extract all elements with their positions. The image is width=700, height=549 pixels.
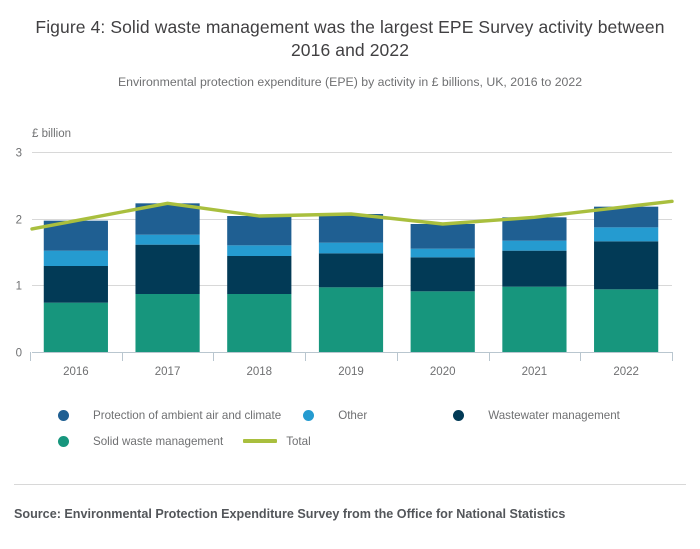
stacked-bar-chart: 01232016201720182019202020212022 — [0, 128, 700, 378]
chart-legend: Protection of ambient air and climateOth… — [58, 404, 678, 456]
legend-dot-swatch-icon — [58, 436, 69, 447]
chart-header: Figure 4: Solid waste management was the… — [0, 0, 700, 91]
legend-dot-swatch-icon — [58, 410, 69, 421]
page-title: Figure 4: Solid waste management was the… — [28, 16, 672, 62]
legend-label: Solid waste management — [93, 435, 223, 448]
bar-segment — [227, 256, 291, 294]
legend-item-total[interactable]: Total — [243, 435, 311, 448]
x-axis-tick-label: 2019 — [338, 366, 364, 378]
legend-label: Other — [338, 409, 367, 422]
y-axis-tick-label: 2 — [16, 215, 22, 227]
legend-label: Protection of ambient air and climate — [93, 409, 281, 422]
x-axis-tick-label: 2017 — [155, 366, 181, 378]
bar-segment — [319, 243, 383, 254]
bar-segment — [411, 291, 475, 352]
legend-label: Wastewater management — [488, 409, 620, 422]
bar-segment — [227, 294, 291, 352]
legend-line-swatch-icon — [243, 439, 277, 442]
y-axis-tick-label: 3 — [16, 148, 22, 160]
legend-dot-swatch-icon — [303, 410, 314, 421]
bar-segment — [135, 245, 199, 294]
y-axis-tick-label: 1 — [16, 281, 22, 293]
chart-plot-area: £ billion 012320162017201820192020202120… — [0, 128, 700, 378]
x-axis-tick-label: 2022 — [613, 366, 639, 378]
x-axis-tick-label: 2016 — [63, 366, 89, 378]
x-axis-tick-label: 2021 — [522, 366, 548, 378]
bar-segment — [44, 303, 108, 352]
bar-segment — [594, 227, 658, 241]
bar-segment — [319, 253, 383, 287]
x-axis-tick-label: 2018 — [246, 366, 272, 378]
chart-subtitle: Environmental protection expenditure (EP… — [28, 75, 672, 91]
legend-item-wastewater-management[interactable]: Wastewater management — [453, 409, 620, 422]
bar-segment — [227, 216, 291, 245]
footer-divider — [14, 484, 686, 485]
bar-segment — [135, 294, 199, 352]
bar-segment — [411, 224, 475, 249]
legend-item-other[interactable]: Other — [303, 409, 367, 422]
bar-segment — [411, 249, 475, 258]
source-note: Source: Environmental Protection Expendi… — [14, 507, 565, 521]
bar-segment — [227, 245, 291, 256]
bar-segment — [411, 257, 475, 291]
bar-segment — [594, 289, 658, 352]
legend-row: Solid waste managementTotal — [58, 430, 678, 452]
legend-dot-swatch-icon — [453, 410, 464, 421]
bar-segment — [502, 217, 566, 240]
y-axis-unit-label: £ billion — [32, 128, 77, 140]
legend-label: Total — [286, 435, 311, 448]
x-axis-tick-label: 2020 — [430, 366, 456, 378]
bar-segment — [135, 235, 199, 245]
bar-segment — [319, 287, 383, 352]
bar-segment — [594, 241, 658, 289]
bar-segment — [502, 251, 566, 287]
legend-item-solid-waste-management[interactable]: Solid waste management — [58, 435, 223, 448]
bar-segment — [502, 241, 566, 251]
bar-segment — [44, 266, 108, 303]
legend-item-protection-of-ambient-air-and-climate[interactable]: Protection of ambient air and climate — [58, 409, 281, 422]
bar-segment — [319, 214, 383, 243]
bar-segment — [502, 287, 566, 352]
legend-row: Protection of ambient air and climateOth… — [58, 404, 678, 426]
y-axis-tick-label: 0 — [16, 348, 22, 360]
bar-segment — [44, 251, 108, 266]
